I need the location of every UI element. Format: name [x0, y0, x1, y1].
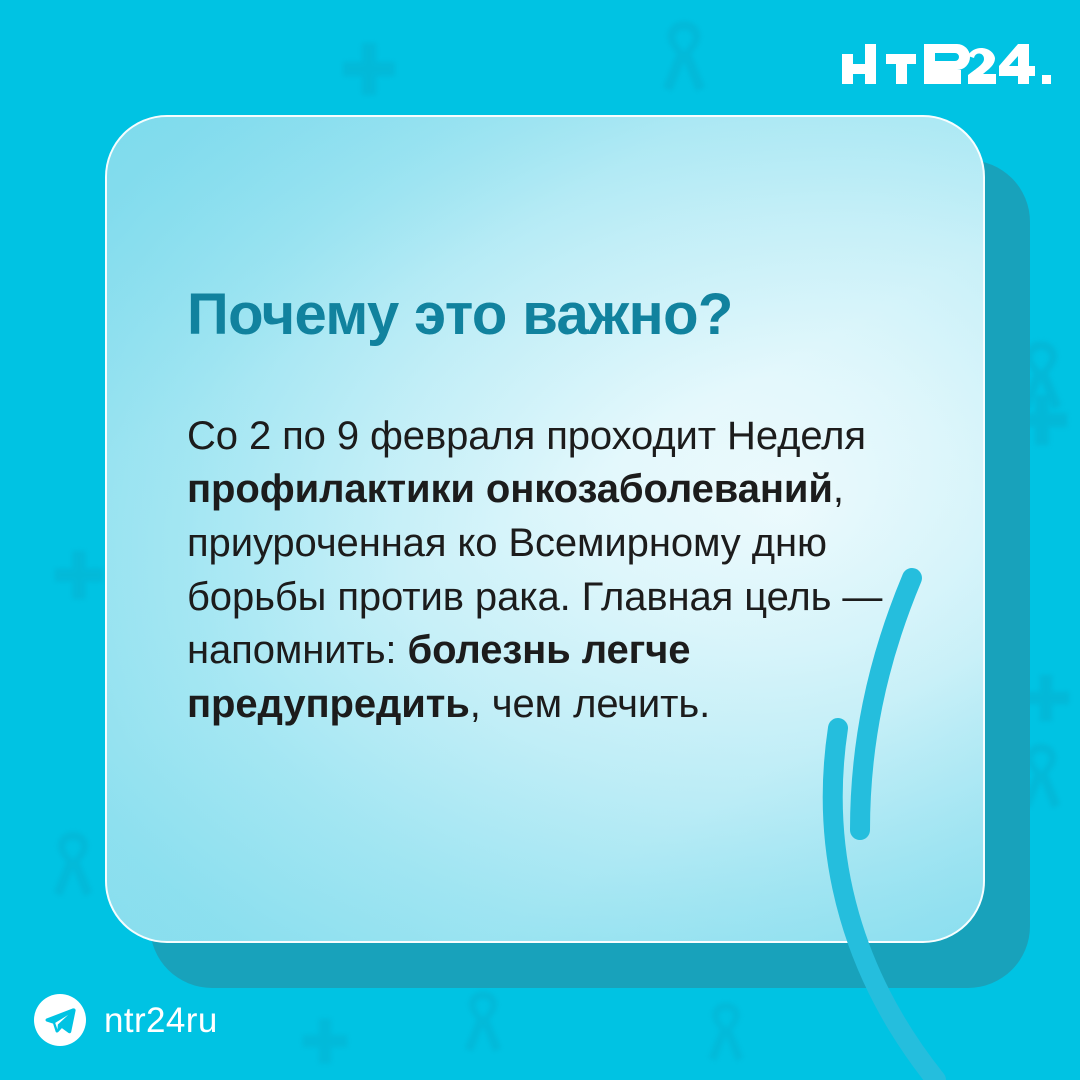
ribbon-watermark-icon: [452, 988, 514, 1072]
plus-watermark-icon: [300, 1016, 350, 1066]
card-content: Почему это важно? Со 2 по 9 февраля прох…: [187, 285, 927, 731]
social-footer[interactable]: ntr24ru: [34, 994, 218, 1046]
telegram-icon[interactable]: [34, 994, 86, 1046]
poster-canvas: Почему это важно? Со 2 по 9 февраля прох…: [0, 0, 1080, 1080]
body-paragraph: Со 2 по 9 февраля проходит Неделя профил…: [187, 410, 917, 732]
ribbon-watermark-icon: [648, 18, 720, 114]
telegram-handle[interactable]: ntr24ru: [104, 1003, 218, 1038]
plus-watermark-icon: [52, 548, 106, 602]
ntr24-logo-icon: [842, 42, 1054, 90]
page-title: Почему это важно?: [187, 285, 927, 346]
body-segment: , чем лечить.: [470, 682, 710, 726]
brand-logo: НТР24·: [842, 42, 1054, 90]
content-card: Почему это важно? Со 2 по 9 февраля прох…: [105, 115, 985, 943]
ribbon-watermark-icon: [40, 828, 106, 918]
ribbon-watermark-icon: [696, 1000, 756, 1080]
body-segment: Со 2 по 9 февраля проходит Неделя: [187, 414, 866, 458]
body-segment-bold: профилактики онкозаболеваний: [187, 467, 833, 511]
